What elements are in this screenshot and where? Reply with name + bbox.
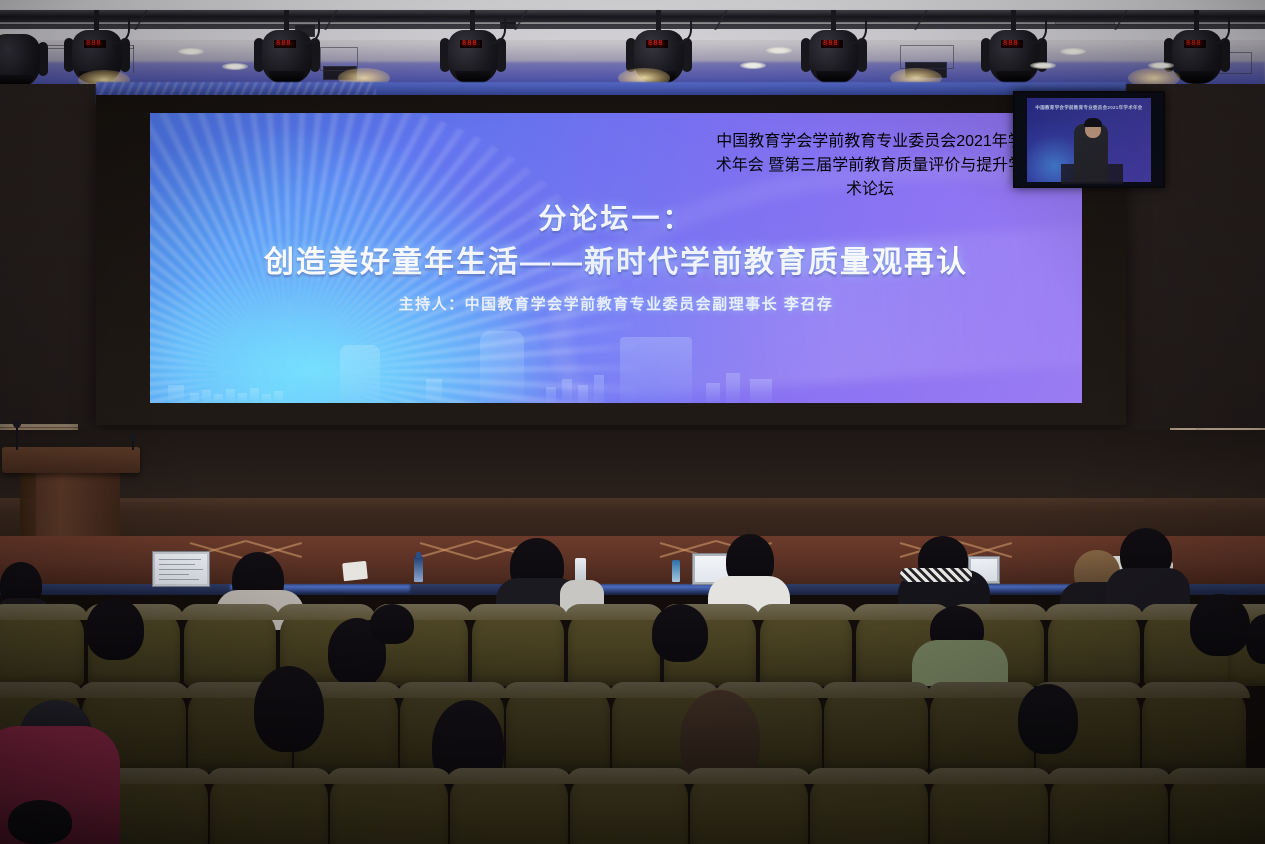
- light-yoke: [831, 10, 836, 32]
- stage-light-fixture: [0, 26, 44, 88]
- water-bottle: [672, 560, 680, 582]
- podium-top: [2, 447, 140, 473]
- audience-scarf: [900, 568, 972, 582]
- light-led-display: 888: [460, 40, 482, 48]
- microphone-head: [13, 420, 21, 428]
- audience-head: [86, 598, 144, 660]
- auditorium-seat: [570, 772, 688, 844]
- ceiling-catwalk-rail: [900, 45, 954, 69]
- ceiling-catwalk-rail: [320, 47, 358, 71]
- water-bottle: [414, 556, 423, 582]
- laptop-text-line: [159, 564, 195, 565]
- desk-chevron: [420, 542, 476, 560]
- light-led-display: 888: [646, 40, 668, 48]
- audience-head: [370, 604, 414, 644]
- water-bottle: [416, 552, 421, 558]
- paper-stack: [342, 561, 368, 581]
- auditorium-seat: [184, 608, 276, 686]
- auditorium-seat: [760, 608, 852, 686]
- slide-title-line1: 分论坛一：: [150, 197, 1082, 237]
- auditorium-seat: [1050, 772, 1168, 844]
- water-bottle: [575, 558, 586, 582]
- lighting-truss: [0, 10, 1265, 22]
- auditorium-seat: [450, 772, 568, 844]
- audience-head: [8, 800, 72, 844]
- light-led-display: 888: [274, 40, 296, 48]
- laptop-text-line: [159, 559, 201, 560]
- auditorium-seat: [1142, 686, 1246, 772]
- laptop-text-line: [159, 574, 189, 575]
- slide-header: 中国教育学会学前教育专业委员会2021年学术年会 暨第三届学前教育质量评价与提升…: [710, 127, 1030, 199]
- auditorium-seat: [568, 608, 660, 686]
- light-led-display: 888: [821, 40, 843, 48]
- auditorium-seat: [506, 686, 610, 772]
- slide-host-line: 主持人：中国教育学会学前教育专业委员会副理事长 李召存: [150, 293, 1082, 314]
- recessed-downlight: [178, 48, 204, 55]
- stage-light-fixture: 888: [444, 22, 502, 84]
- desk-surface-glow: [600, 585, 720, 593]
- auditorium-seat: [824, 686, 928, 772]
- recessed-downlight: [222, 63, 248, 70]
- light-yoke: [1194, 10, 1199, 32]
- projection-screen: 中国教育学会学前教育专业委员会2021年学术年会 暨第三届学前教育质量评价与提升…: [150, 113, 1082, 403]
- recessed-downlight: [1060, 48, 1086, 55]
- light-yoke: [470, 10, 475, 32]
- auditorium-seat: [0, 608, 84, 686]
- monitor-speaker-hair: [1084, 118, 1102, 127]
- auditorium-seat: [930, 772, 1048, 844]
- audience-head: [254, 666, 324, 752]
- auditorium-seat: [210, 772, 328, 844]
- auditorium-seat: [330, 772, 448, 844]
- auditorium-seat: [1048, 608, 1140, 686]
- light-led-display: 888: [1001, 40, 1023, 48]
- light-yoke: [1011, 10, 1016, 32]
- light-yoke: [656, 10, 661, 32]
- auditorium-seat: [810, 772, 928, 844]
- recessed-downlight: [1030, 62, 1056, 69]
- light-yoke: [284, 10, 289, 32]
- laptop-screen: [155, 554, 207, 584]
- audience-head: [1018, 684, 1078, 754]
- auditorium-photo: 888 888 888 888 888: [0, 0, 1265, 844]
- slide-city-skyline: [150, 311, 1082, 403]
- stage-backdrop-lower: [0, 430, 1265, 502]
- slide-header-line2: 暨第三届学前教育质量评价与提升学术论坛: [768, 157, 1024, 198]
- light-led-display: 888: [1184, 40, 1206, 48]
- laptop-text-line: [159, 569, 203, 570]
- auditorium-seat: [690, 772, 808, 844]
- microphone-head-2: [129, 433, 136, 441]
- light-yoke: [94, 10, 99, 32]
- audience-head: [1190, 594, 1250, 656]
- stage-light-fixture: 888: [258, 22, 316, 84]
- recessed-downlight: [766, 47, 792, 54]
- monitor-header-text: 中国教育学会学前教育专业委员会2021年学术年会: [1033, 105, 1145, 111]
- light-led-display: 888: [84, 40, 106, 48]
- laptop: [152, 551, 210, 587]
- slide-title-line2: 创造美好童年生活——新时代学前教育质量观再认: [150, 237, 1082, 281]
- stage-light-fixture: 888: [985, 22, 1043, 84]
- auditorium-seat: [472, 608, 564, 686]
- monitor-screen: 中国教育学会学前教育专业委员会2021年学术年会: [1027, 98, 1151, 182]
- audience-head: [652, 604, 708, 662]
- stage-light-fixture: 888: [805, 22, 863, 84]
- recessed-downlight: [740, 62, 766, 69]
- auditorium-seat: [1170, 772, 1265, 844]
- audience-body: [912, 640, 1008, 686]
- laptop-text-line: [159, 579, 199, 580]
- side-monitor: 中国教育学会学前教育专业委员会2021年学术年会: [1013, 91, 1165, 188]
